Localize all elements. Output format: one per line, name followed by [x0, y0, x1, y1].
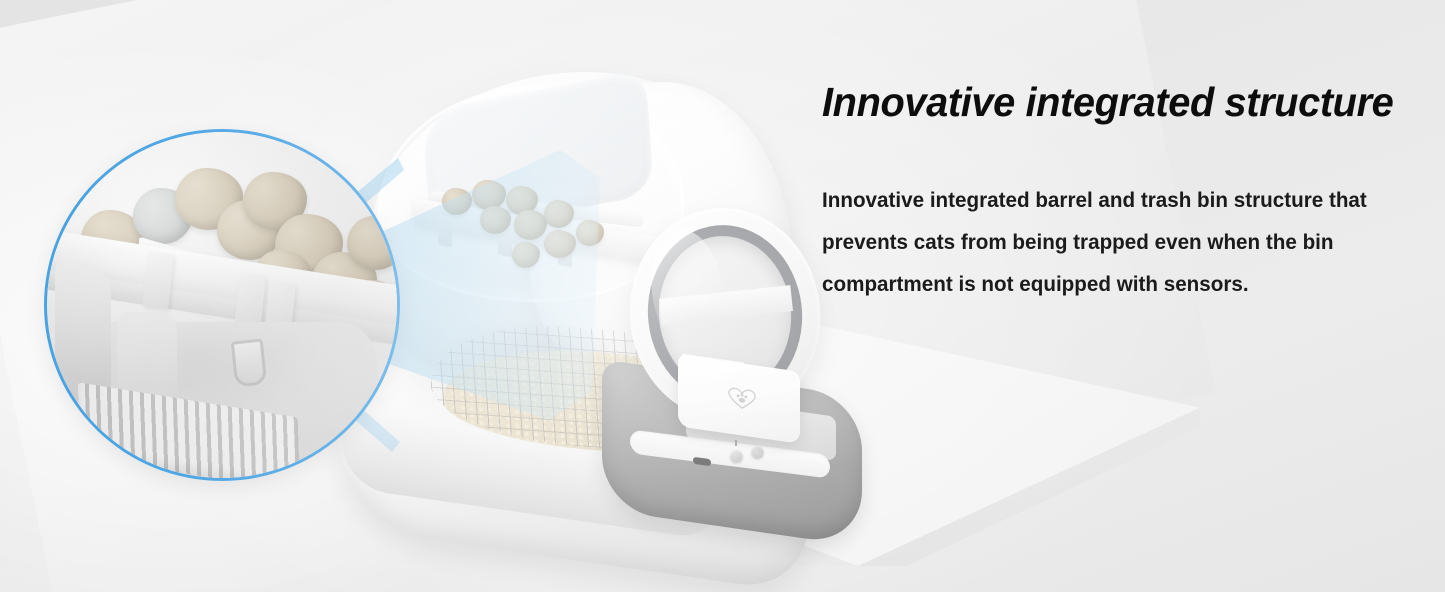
description-line-2: prevents cats from being trapped even wh…: [822, 221, 1398, 263]
feature-text-block: Innovative integrated structure Innovati…: [822, 82, 1422, 305]
description-line-3: compartment is not equipped with sensors…: [822, 263, 1398, 305]
feature-description: Innovative integrated barrel and trash b…: [822, 179, 1398, 305]
page-title: Innovative integrated structure: [822, 82, 1404, 123]
description-line-1: Innovative integrated barrel and trash b…: [822, 179, 1398, 221]
product-feature-banner: Innovative integrated structure Innovati…: [0, 0, 1445, 592]
